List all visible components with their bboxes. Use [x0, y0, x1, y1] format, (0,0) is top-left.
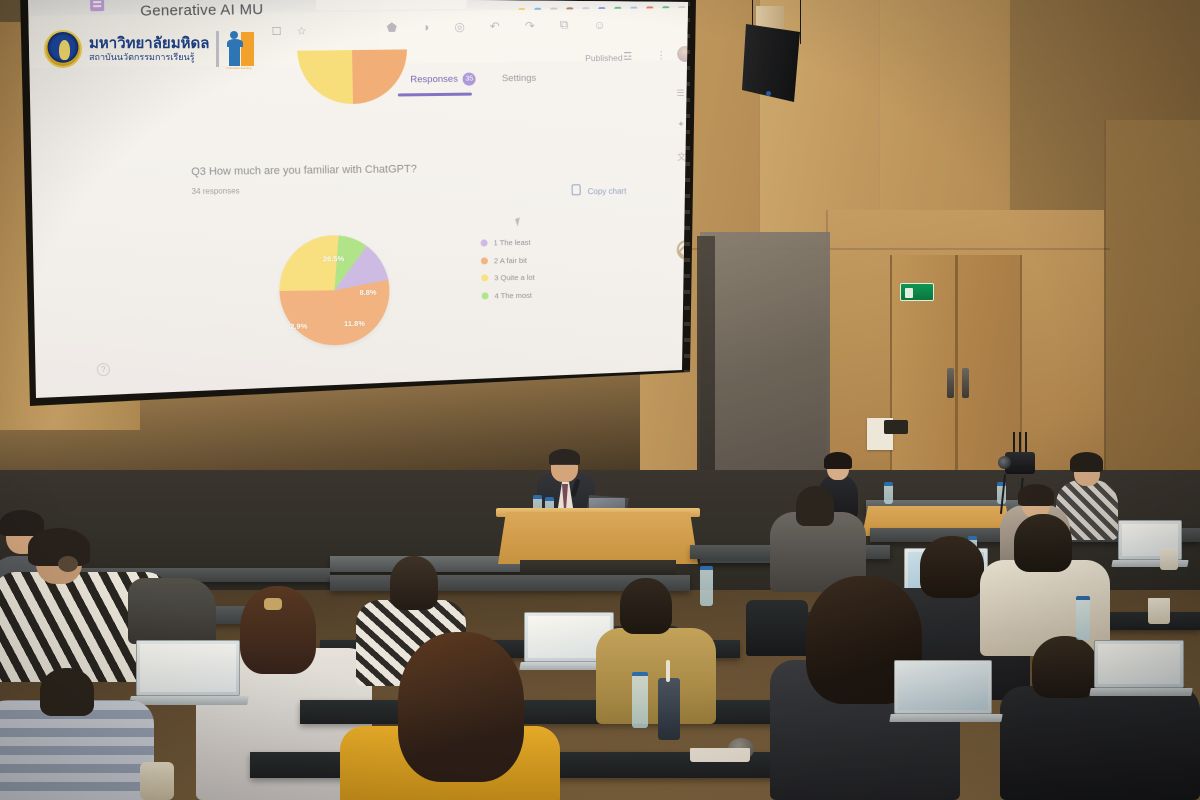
question-title: Q3 How much are you familiar with ChatGP… [191, 163, 417, 178]
legend-swatch [481, 292, 488, 299]
legend-item: 2 A fair bit [481, 255, 535, 265]
pie-label-quite-a-lot: 26.5% [323, 254, 344, 263]
speaker-wire [800, 0, 801, 44]
innovative-learning-mark: innovative learning [226, 30, 260, 68]
attendee-hair [398, 632, 524, 782]
previous-question-pie-chart [297, 49, 408, 104]
right-rail[interactable]: ☰ ✦ 文 [676, 88, 686, 163]
attendee-hair [620, 578, 672, 634]
door-seam [955, 255, 958, 505]
pie-label-the-least: 11.8% [344, 319, 365, 328]
help-icon[interactable]: ? [97, 363, 110, 376]
university-name-th: มหาวิทยาลัยมหิดล [89, 36, 209, 53]
water-bottle [884, 482, 893, 504]
university-name: มหาวิทยาลัยมหิดล สถาบันนวัตกรรมการเรียนร… [89, 36, 209, 63]
desk-row [300, 700, 820, 724]
active-tab-indicator [398, 93, 472, 96]
responses-count-badge: 35 [463, 73, 476, 86]
door-handle[interactable] [962, 368, 969, 398]
add-collaborator-icon[interactable]: ☺ [593, 17, 606, 31]
il-caption: innovative learning [226, 66, 251, 70]
chair-back [746, 600, 808, 656]
mouse-cursor [515, 217, 522, 226]
palette-icon[interactable]: ◑ [422, 20, 430, 34]
redo-icon[interactable]: ↷ [525, 18, 535, 32]
wall-panel [880, 0, 1010, 230]
pie-label-the-most: 8.8% [359, 288, 376, 297]
copy-chart-button[interactable]: Copy chart [588, 187, 627, 196]
attendee-hair [1014, 514, 1072, 572]
travel-tumbler [658, 678, 680, 740]
stone-pillar [700, 232, 830, 482]
laptop [130, 640, 240, 706]
attendee-hair [920, 536, 984, 598]
response-count: 34 responses [192, 186, 240, 196]
laptop [1090, 640, 1186, 698]
attendee-hair [390, 556, 438, 610]
more-options-icon[interactable]: ⋮ [656, 50, 666, 61]
star-icon[interactable]: ☆ [297, 25, 307, 38]
legend-swatch [481, 257, 488, 264]
publish-settings-icon[interactable]: ☲ [623, 52, 632, 63]
forms-toolbar[interactable]: ⬟ ◑ ◎ ↶ ↷ ⧉ ☺ [386, 17, 605, 35]
chart-legend: 1 The least 2 A fair bit 3 Quite a lot 4… [481, 238, 536, 309]
link-icon[interactable]: ⧉ [560, 17, 569, 32]
tab-settings[interactable]: Settings [502, 73, 537, 84]
copy-chart-icon[interactable] [572, 184, 581, 195]
legend-swatch [481, 274, 488, 281]
institute-name-th: สถาบันนวัตกรรมการเรียนรู้ [89, 52, 209, 62]
sparkle-ai-icon[interactable]: ✦ [677, 119, 685, 130]
tab-responses[interactable]: Responses35 [410, 73, 476, 87]
emergency-exit-sign-icon [900, 283, 934, 301]
water-bottle [1076, 596, 1090, 640]
hair-bun [58, 556, 78, 572]
legend-item: 3 Quite a lot [481, 273, 535, 283]
legend-label: 1 The least [494, 238, 531, 247]
attendee-hair [1018, 484, 1054, 506]
document-title[interactable]: Generative AI MU [140, 1, 263, 20]
attendee-hair [40, 668, 94, 716]
laptop [890, 660, 994, 724]
preview-eye-icon[interactable]: ◎ [454, 19, 465, 33]
straw [666, 660, 670, 682]
avatar[interactable] [677, 46, 688, 62]
pie-label-a-fair-bit: 52.9% [286, 322, 307, 331]
attendee-hair [1070, 452, 1103, 472]
mahidol-logo-overlay: มหาวิทยาลัยมหิดล สถาบันนวัตกรรมการเรียนร… [44, 30, 260, 68]
legend-label: 4 The most [494, 290, 532, 299]
door-sign-plate [884, 420, 908, 434]
translate-icon[interactable]: 文 [677, 150, 686, 163]
hanging-loudspeaker [742, 24, 800, 102]
attendee-hair [796, 486, 834, 526]
coffee-cup [1160, 548, 1178, 570]
legend-swatch [481, 239, 488, 246]
undo-icon[interactable]: ↶ [490, 19, 500, 33]
camera-shotgun-mic [1013, 432, 1015, 454]
mahidol-seal-icon [44, 30, 82, 68]
move-to-folder-icon[interactable]: ☐ [272, 25, 282, 38]
handbag [128, 578, 216, 644]
paper-sheet [690, 748, 750, 762]
puzzle-icon[interactable]: ⬟ [387, 20, 398, 34]
published-label[interactable]: Published [585, 53, 623, 63]
camera-lens [998, 456, 1011, 469]
google-forms-icon[interactable] [90, 0, 104, 11]
door-handle[interactable] [947, 368, 954, 398]
list-view-icon[interactable]: ☰ [676, 88, 684, 99]
water-bottle [632, 672, 648, 728]
legend-label: 2 A fair bit [494, 255, 527, 264]
attendee-hair [1032, 636, 1098, 698]
presenter-glasses [553, 464, 576, 469]
logo-divider [216, 31, 219, 67]
water-bottle [700, 566, 713, 606]
tab-responses-label: Responses [410, 74, 458, 86]
coffee-cup [1148, 598, 1170, 624]
legend-item: 4 The most [481, 290, 535, 300]
presenter-hair [549, 449, 580, 465]
legend-label: 3 Quite a lot [494, 273, 535, 282]
pie-chart: 26.5% 8.8% 11.8% 52.9% [278, 235, 390, 346]
bag [140, 762, 174, 800]
attendee-hair [824, 452, 852, 469]
lecture-hall-photo: Google Fi - Login success × + – □ × pim-… [0, 0, 1200, 800]
stone-pillar-edge [697, 236, 715, 482]
legend-item: 1 The least [481, 238, 535, 248]
hair-clip [264, 598, 282, 610]
attendee-torso [1000, 686, 1200, 800]
attendee-torso [596, 628, 716, 724]
